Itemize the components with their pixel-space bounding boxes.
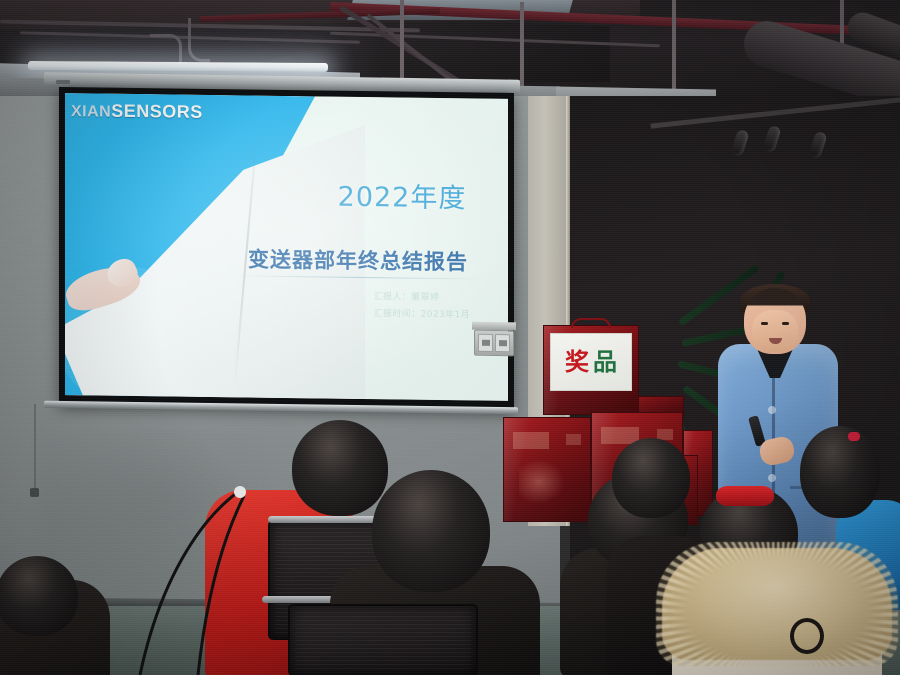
rabbit-motif (519, 461, 567, 506)
prize-char-2: 品 (593, 350, 617, 374)
gift-box (503, 417, 591, 522)
socket-outlet[interactable] (478, 334, 493, 352)
coat-button (768, 474, 776, 482)
ceiling-post (400, 0, 404, 90)
electrical-conduit (188, 18, 210, 62)
slide-subtitle: 变送器部年终总结报告 (213, 243, 503, 277)
gift-box-label (513, 432, 549, 448)
roller-end-cap (56, 80, 70, 84)
ceiling-post (520, 2, 524, 86)
prize-char-1: 奖 (565, 350, 589, 374)
coat-toggle-loop (790, 618, 824, 654)
head (800, 426, 880, 518)
prize-box-panel: 奖 品 (550, 333, 633, 391)
presenter-face (752, 310, 798, 352)
projection-screen-surface: XIANSENSORS 2022年度 变送器部年终总结报告 汇报人：董翠婷 汇报… (65, 93, 508, 401)
box-handle (571, 318, 611, 328)
company-logo: XIANSENSORS (71, 101, 203, 122)
head (612, 438, 690, 518)
floor-cables (0, 400, 420, 675)
presenter-eye (782, 322, 789, 325)
red-hair-bow (716, 486, 774, 506)
prize-box: 奖 品 (543, 325, 639, 415)
slide-title: 2022年度 (302, 174, 502, 216)
wall-socket-panel[interactable] (474, 330, 514, 357)
fur-hood (662, 548, 892, 660)
logo-prefix: XIAN (71, 103, 111, 121)
byline-date: 汇报时间：2023年1月 (374, 306, 470, 324)
electrical-conduit (150, 34, 182, 62)
presenter-eye (761, 322, 768, 325)
projection-screen: XIANSENSORS 2022年度 变送器部年终总结报告 汇报人：董翠婷 汇报… (59, 87, 514, 411)
presentation-slide: XIANSENSORS 2022年度 变送器部年终总结报告 汇报人：董翠婷 汇报… (65, 93, 508, 401)
logo-main: SENSORS (111, 101, 203, 122)
slide-byline: 汇报人：董翠婷 汇报时间：2023年1月 (374, 289, 470, 324)
presentation-photo-scene: XIANSENSORS 2022年度 变送器部年终总结报告 汇报人：董翠婷 汇报… (0, 0, 900, 675)
gift-box-brandmark (566, 434, 581, 444)
hair-tie (848, 432, 860, 441)
ceiling-post (672, 0, 676, 96)
byline-presenter: 汇报人：董翠婷 (374, 289, 470, 307)
socket-switch[interactable] (495, 334, 510, 352)
coat-button (768, 406, 776, 414)
